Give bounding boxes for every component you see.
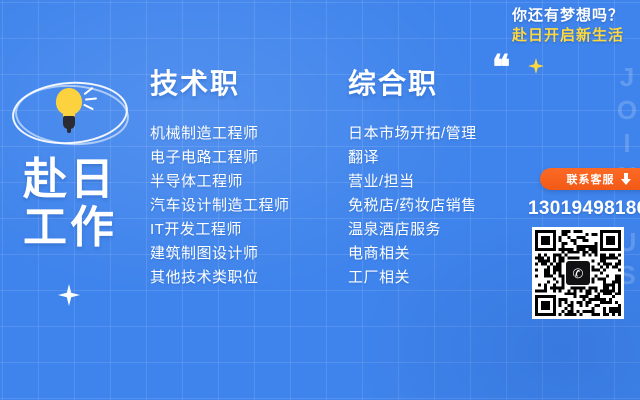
- quote-mark-icon: ❝: [492, 52, 510, 86]
- yellow-star-icon: [528, 58, 544, 74]
- slogan-block: 你还有梦想吗？ 赴日开启新生活: [512, 6, 624, 47]
- list-item: 电商相关: [348, 242, 477, 266]
- column-general-list: 日本市场开拓/管理 翻译 营业/担当 免税店/药妆店销售 温泉酒店服务 电商相关…: [348, 122, 477, 290]
- phone-number: 13019498186: [528, 198, 640, 220]
- list-item: 机械制造工程师: [150, 122, 290, 146]
- qr-logo-glyph: ✆: [573, 267, 584, 280]
- list-item: 温泉酒店服务: [348, 218, 477, 242]
- list-item: 汽车设计制造工程师: [150, 194, 290, 218]
- column-technical: 技术职 机械制造工程师 电子电路工程师 半导体工程师 汽车设计制造工程师 IT开…: [150, 62, 290, 290]
- list-item: 电子电路工程师: [150, 146, 290, 170]
- contact-support-label: 联系客服: [567, 171, 615, 187]
- list-item: IT开发工程师: [150, 218, 290, 242]
- hero-title: 赴日 工作: [0, 156, 140, 251]
- slogan-line-1: 你还有梦想吗？: [512, 6, 624, 26]
- bulb-glyph: [52, 88, 86, 134]
- column-technical-heading: 技术职: [150, 62, 290, 102]
- qr-code[interactable]: ✆: [532, 227, 624, 319]
- slogan-line-2: 赴日开启新生活: [512, 26, 624, 46]
- hero-title-line-1: 赴日: [0, 156, 140, 204]
- white-sparkle-icon: [58, 284, 80, 306]
- list-item: 营业/担当: [348, 170, 477, 194]
- list-item: 半导体工程师: [150, 170, 290, 194]
- contact-block: 联系客服 13019498186 ✆: [528, 168, 640, 319]
- arrow-down-icon: [621, 173, 632, 185]
- list-item: 日本市场开拓/管理: [348, 122, 477, 146]
- list-item: 其他技术类职位: [150, 266, 290, 290]
- list-item: 工厂相关: [348, 266, 477, 290]
- qr-code-logo: ✆: [566, 261, 590, 285]
- column-general: 综合职 日本市场开拓/管理 翻译 营业/担当 免税店/药妆店销售 温泉酒店服务 …: [348, 62, 477, 290]
- contact-support-button[interactable]: 联系客服: [540, 168, 640, 190]
- poster-canvas: JOIN US 你还有梦想吗？ 赴日开启新生活 ❝ 赴日 工作: [0, 0, 640, 400]
- list-item: 建筑制图设计师: [150, 242, 290, 266]
- lightbulb-icon: [12, 76, 132, 148]
- hero-block: 赴日 工作: [0, 72, 140, 251]
- column-general-heading: 综合职: [348, 62, 477, 102]
- bulb-tip: [67, 127, 71, 133]
- column-technical-list: 机械制造工程师 电子电路工程师 半导体工程师 汽车设计制造工程师 IT开发工程师…: [150, 122, 290, 290]
- list-item: 免税店/药妆店销售: [348, 194, 477, 218]
- list-item: 翻译: [348, 146, 477, 170]
- hero-title-line-2: 工作: [0, 204, 140, 252]
